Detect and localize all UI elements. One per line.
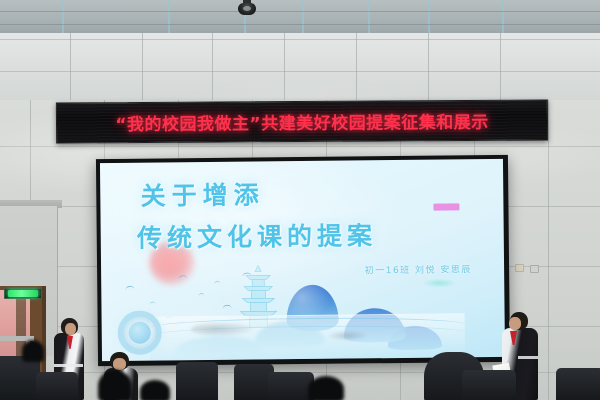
chair-back	[462, 370, 516, 400]
slide-bird-icon	[125, 285, 134, 290]
slide-title-line2: 传统文化课的提案	[137, 215, 480, 255]
auditorium-photo: “我的校园我做主”共建美好校园提案征集和展示	[0, 0, 600, 400]
upper-wall	[0, 33, 600, 105]
audience-head	[308, 376, 344, 400]
slide-bird-icon	[214, 280, 220, 284]
slide-subtitle: 初一16班 刘悦 安思辰	[365, 262, 472, 276]
audience-head	[22, 340, 44, 362]
slide-bird-icon	[150, 301, 156, 305]
chair-back	[0, 356, 40, 400]
projection-screen: 关于增添 传统文化课的提案 初一16班 刘悦 安思辰	[100, 159, 505, 361]
dome-security-camera	[238, 0, 256, 15]
slide-bird-icon	[198, 292, 204, 296]
projection-screen-frame: 关于增添 传统文化课的提案 初一16班 刘悦 安思辰	[96, 155, 510, 366]
audience-head	[98, 370, 132, 400]
chair-back	[556, 368, 600, 400]
led-scrolling-banner: “我的校园我做主”共建美好校园提案征集和展示	[56, 99, 548, 143]
ceiling-grid	[0, 0, 600, 36]
chair-back	[176, 362, 218, 400]
slide-scroll-sheet	[150, 314, 465, 361]
audience-head	[140, 380, 170, 400]
emergency-exit-sign	[4, 288, 42, 299]
ceiling-tiles	[0, 0, 600, 36]
slide-bird-icon	[178, 275, 187, 280]
wall-outlet-1	[515, 264, 524, 272]
slide-scroll-roll	[118, 311, 162, 355]
slide-title: 关于增添 传统文化课的提案	[140, 173, 479, 255]
led-banner-text: “我的校园我做主”共建美好校园提案征集和展示	[115, 108, 489, 135]
slide-pond	[422, 278, 456, 287]
slide-bird-icon	[222, 304, 231, 309]
chair-back	[36, 372, 78, 400]
slide-title-line1: 关于增添	[140, 173, 479, 213]
wall-outlet-2	[530, 265, 539, 273]
